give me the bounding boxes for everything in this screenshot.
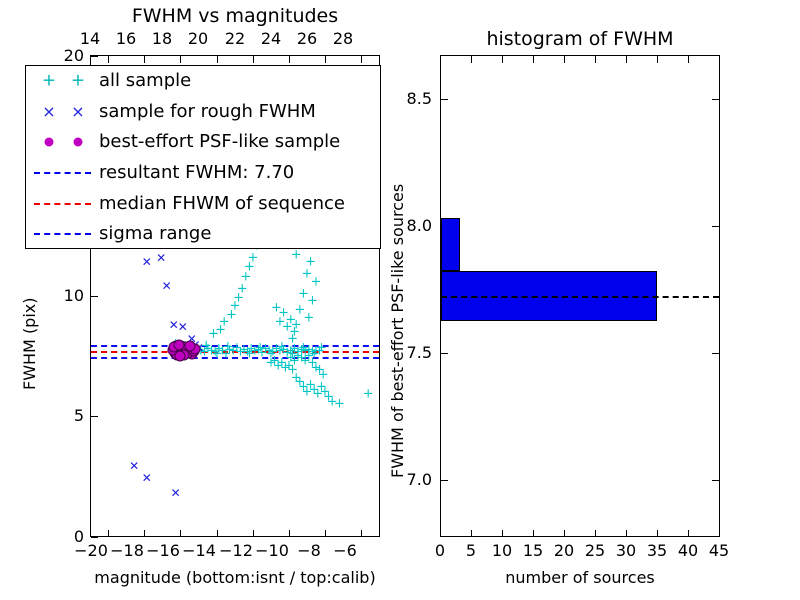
left-top-tick-3: 20 — [180, 29, 216, 48]
scatter-point-rough-fwhm: ✕ — [142, 256, 152, 268]
legend-label-resultant-fwhm: resultant FWHM: 7.70 — [99, 164, 294, 182]
scatter-point-rough-fwhm: ✕ — [129, 460, 139, 472]
right-x-tick-5: 25 — [579, 541, 611, 560]
left-top-tick-6: 26 — [289, 29, 325, 48]
scatter-point-all-sample: + — [248, 251, 259, 264]
left-yaxis-label: FWHM (pix) — [20, 298, 39, 391]
left-bottom-tick-2: −16 — [145, 541, 181, 560]
left-y-tick-10: 10 — [44, 286, 84, 305]
legend-marker-x: × × — [26, 97, 99, 128]
legend-marker-blue-dashed-line — [26, 158, 99, 189]
scatter-point-all-sample: + — [287, 347, 298, 360]
left-bottom-tick-6: −8 — [291, 541, 327, 560]
scatter-point-all-sample: + — [298, 341, 309, 354]
legend-label-median-fwhm: median FHWM of sequence — [99, 195, 345, 213]
left-bottom-tick-1: −18 — [109, 541, 145, 560]
scatter-point-all-sample: + — [305, 256, 316, 269]
right-x-tick-3: 15 — [517, 541, 549, 560]
legend-label-rough-fwhm: sample for rough FWHM — [99, 103, 316, 121]
left-bottom-tick-0: −20 — [73, 541, 109, 560]
scatter-point-all-sample: + — [266, 348, 277, 361]
left-bottom-tick-5: −10 — [254, 541, 290, 560]
scatter-point-all-sample: + — [291, 249, 302, 262]
legend-marker-dot — [26, 127, 99, 158]
left-panel-title: FWHM vs magnitudes — [90, 5, 380, 27]
scatter-point-all-sample: + — [316, 341, 327, 354]
legend-item-resultant-fwhm[interactable]: resultant FWHM: 7.70 — [26, 158, 380, 189]
scatter-point-psf-like — [175, 350, 186, 361]
scatter-point-rough-fwhm: ✕ — [162, 280, 172, 292]
legend-item-psf-like[interactable]: best-effort PSF-like sample — [26, 127, 380, 158]
legend-label-psf-like: best-effort PSF-like sample — [99, 133, 340, 151]
scatter-point-all-sample: + — [240, 270, 251, 283]
right-panel-title: histogram of FWHM — [440, 28, 720, 50]
legend-box: + + all sample × × sample for rough FWHM… — [25, 65, 381, 249]
legend-marker-plus: + + — [26, 66, 99, 97]
left-top-tick-4: 22 — [217, 29, 253, 48]
legend-marker-dashdot-line — [26, 219, 99, 250]
right-x-tick-6: 30 — [610, 541, 642, 560]
left-xaxis-label: magnitude (bottom:isnt / top:calib) — [90, 568, 380, 587]
right-x-tick-8: 40 — [672, 541, 704, 560]
legend-label-all-sample: all sample — [99, 72, 191, 90]
scatter-point-all-sample: + — [363, 388, 374, 401]
right-yaxis-label: FWHM of best-effort PSF-like sources — [388, 184, 407, 478]
legend-item-sigma-range[interactable]: sigma range — [26, 219, 380, 250]
left-bottom-tick-7: −6 — [327, 541, 363, 560]
left-top-tick-2: 18 — [144, 29, 180, 48]
scatter-point-psf-like — [185, 341, 196, 352]
histogram-bar — [441, 218, 460, 271]
right-x-tick-0: 0 — [424, 541, 456, 560]
right-x-tick-9: 45 — [703, 541, 735, 560]
scatter-point-all-sample: + — [255, 341, 266, 354]
histogram-median-line — [441, 296, 719, 298]
right-x-tick-1: 5 — [455, 541, 487, 560]
scatter-point-all-sample: + — [334, 398, 345, 411]
left-bottom-tick-3: −14 — [181, 541, 217, 560]
legend-item-rough-fwhm[interactable]: × × sample for rough FWHM — [26, 97, 380, 128]
left-top-tick-1: 16 — [108, 29, 144, 48]
left-y-tick-20: 20 — [44, 46, 84, 65]
scatter-point-all-sample: + — [233, 292, 244, 305]
scatter-point-all-sample: + — [307, 294, 318, 307]
left-bottom-tick-4: −12 — [218, 541, 254, 560]
legend-label-sigma-range: sigma range — [99, 225, 211, 243]
legend-item-median-fwhm[interactable]: median FHWM of sequence — [26, 188, 380, 219]
scatter-point-all-sample: + — [311, 275, 322, 288]
scatter-point-rough-fwhm: ✕ — [142, 472, 152, 484]
left-top-tick-5: 24 — [253, 29, 289, 48]
scatter-point-all-sample: + — [271, 302, 282, 315]
legend-item-all-sample[interactable]: + + all sample — [26, 66, 380, 97]
left-y-tick-5: 5 — [44, 406, 84, 425]
right-xaxis-label: number of sources — [440, 568, 720, 587]
right-x-tick-2: 10 — [486, 541, 518, 560]
scatter-point-all-sample: + — [303, 311, 314, 324]
left-top-tick-7: 28 — [325, 29, 361, 48]
right-x-tick-4: 20 — [548, 541, 580, 560]
figure-canvas: FWHM vs magnitudes 14 16 18 20 22 24 26 … — [0, 0, 800, 600]
right-y-tick-8p5: 8.5 — [390, 89, 432, 108]
scatter-point-all-sample: + — [276, 341, 287, 354]
scatter-point-all-sample: + — [244, 347, 255, 360]
scatter-point-all-sample: + — [222, 340, 233, 353]
scatter-point-all-sample: + — [275, 316, 286, 329]
scatter-point-rough-fwhm: ✕ — [156, 252, 166, 264]
scatter-point-all-sample: + — [215, 323, 226, 336]
right-x-tick-7: 35 — [641, 541, 673, 560]
scatter-point-rough-fwhm: ✕ — [171, 487, 181, 499]
scatter-point-all-sample: + — [212, 348, 223, 361]
scatter-point-all-sample: + — [226, 309, 237, 322]
legend-marker-red-dashed-line — [26, 188, 99, 219]
